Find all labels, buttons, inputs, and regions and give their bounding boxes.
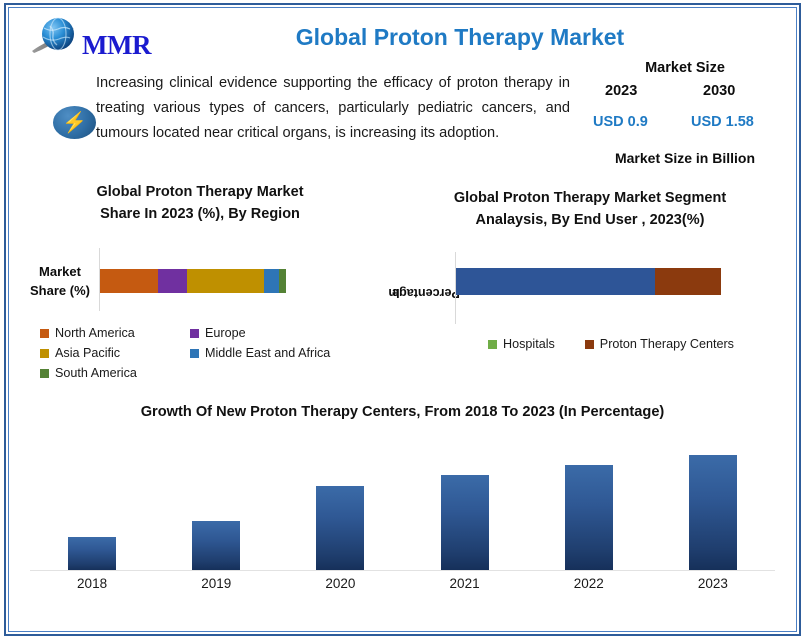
enduser-axis-label-text: InPercentage xyxy=(386,259,434,327)
legend-item-asia-pacific[interactable]: Asia Pacific xyxy=(40,346,190,360)
enduser-chart-title-line2: Analaysis, By End User , 2023(%) xyxy=(400,209,780,231)
growth-bar-label: 2023 xyxy=(651,576,775,591)
legend-label: Europe xyxy=(205,326,246,340)
growth-bar xyxy=(441,475,489,570)
enduser-chart-legend: Hospitals Proton Therapy Centers xyxy=(488,337,778,351)
market-size-unit-note: Market Size in Billion xyxy=(575,150,795,166)
legend-row: North America Europe xyxy=(40,326,390,340)
growth-bar-slot: 2018 xyxy=(30,440,154,570)
growth-bar xyxy=(689,455,737,570)
growth-bar-label: 2021 xyxy=(403,576,527,591)
region-chart-title-line2: Share In 2023 (%), By Region xyxy=(30,203,370,225)
growth-bar xyxy=(192,521,240,570)
legend-swatch-icon xyxy=(40,369,49,378)
legend-swatch-icon xyxy=(40,329,49,338)
market-size-values: USD 0.9 USD 1.58 xyxy=(575,114,795,138)
legend-label: Middle East and Africa xyxy=(205,346,330,360)
enduser-chart-title-line1: Global Proton Therapy Market Segment xyxy=(400,187,780,209)
growth-bar xyxy=(565,465,613,570)
growth-bar-slot: 2023 xyxy=(651,440,775,570)
region-axis-label-line2: Share (%) xyxy=(24,281,96,300)
region-axis-label-line1: Market xyxy=(24,262,96,281)
legend-swatch-icon xyxy=(585,340,594,349)
legend-row: Asia Pacific Middle East and Africa xyxy=(40,346,390,360)
region-bar-segment xyxy=(158,269,188,293)
growth-bar-slot: 2020 xyxy=(278,440,402,570)
market-size-year-2023: 2023 xyxy=(605,83,637,99)
globe-icon xyxy=(30,15,86,59)
legend-row: South America xyxy=(40,366,390,380)
bolt-badge: ⚡ xyxy=(53,106,96,139)
region-chart-axis-label: Market Share (%) xyxy=(24,262,96,300)
legend-swatch-icon xyxy=(40,349,49,358)
region-bar-segment xyxy=(100,269,158,293)
legend-label: South America xyxy=(55,366,137,380)
growth-bar-label: 2019 xyxy=(154,576,278,591)
growth-bar-slot: 2019 xyxy=(154,440,278,570)
legend-item-middle-east-and-africa[interactable]: Middle East and Africa xyxy=(190,346,330,360)
page-title: Global Proton Therapy Market xyxy=(200,24,720,51)
growth-bar-slot: 2022 xyxy=(527,440,651,570)
legend-label: North America xyxy=(55,326,135,340)
region-bar-segment xyxy=(279,269,286,293)
enduser-chart-axis-label: InPercentage xyxy=(398,248,422,338)
growth-chart: 201820192020202120222023 xyxy=(30,440,775,600)
growth-bar-slot: 2021 xyxy=(403,440,527,570)
enduser-chart-title: Global Proton Therapy Market Segment Ana… xyxy=(400,187,780,231)
enduser-axis-label-line2: Percentage xyxy=(392,285,460,301)
growth-bar-label: 2022 xyxy=(527,576,651,591)
region-bar-segment xyxy=(187,269,263,293)
market-size-value-2030: USD 1.58 xyxy=(691,114,754,130)
growth-chart-baseline xyxy=(30,570,775,571)
logo-wordmark: MMR xyxy=(82,30,151,61)
market-size-year-2030: 2030 xyxy=(703,83,735,99)
legend-label: Proton Therapy Centers xyxy=(600,337,734,351)
legend-swatch-icon xyxy=(488,340,497,349)
growth-bar-label: 2018 xyxy=(30,576,154,591)
legend-item-proton-therapy-centers[interactable]: Proton Therapy Centers xyxy=(585,337,734,351)
market-size-years: 2023 2030 xyxy=(575,83,795,103)
region-stacked-bar xyxy=(100,269,286,293)
lightning-bolt-icon: ⚡ xyxy=(53,106,96,139)
legend-item-europe[interactable]: Europe xyxy=(190,326,246,340)
region-chart-title: Global Proton Therapy Market Share In 20… xyxy=(30,181,370,225)
growth-chart-title: Growth Of New Proton Therapy Centers, Fr… xyxy=(30,404,775,420)
infographic-root: MMR Global Proton Therapy Market ⚡ Incre… xyxy=(0,0,805,639)
market-size-title: Market Size xyxy=(575,60,795,76)
enduser-bar-segment xyxy=(655,268,721,295)
growth-bar xyxy=(316,486,364,570)
region-bar-segment xyxy=(264,269,279,293)
legend-item-hospitals[interactable]: Hospitals xyxy=(488,337,555,351)
market-size-block: Market Size 2023 2030 USD 0.9 USD 1.58 M… xyxy=(575,60,795,166)
legend-item-south-america[interactable]: South America xyxy=(40,366,190,380)
legend-label: Asia Pacific xyxy=(55,346,120,360)
region-chart-title-line1: Global Proton Therapy Market xyxy=(30,181,370,203)
enduser-bar-segment xyxy=(456,268,655,295)
enduser-stacked-bar xyxy=(456,268,721,295)
region-chart-legend: North America Europe Asia Pacific Middle… xyxy=(40,326,390,386)
growth-bar xyxy=(68,537,116,570)
mmr-logo: MMR xyxy=(26,14,176,62)
intro-paragraph: Increasing clinical evidence supporting … xyxy=(96,71,570,146)
legend-swatch-icon xyxy=(190,329,199,338)
growth-bar-label: 2020 xyxy=(278,576,402,591)
market-size-value-2023: USD 0.9 xyxy=(593,114,648,130)
legend-label: Hospitals xyxy=(503,337,555,351)
legend-swatch-icon xyxy=(190,349,199,358)
legend-item-north-america[interactable]: North America xyxy=(40,326,190,340)
